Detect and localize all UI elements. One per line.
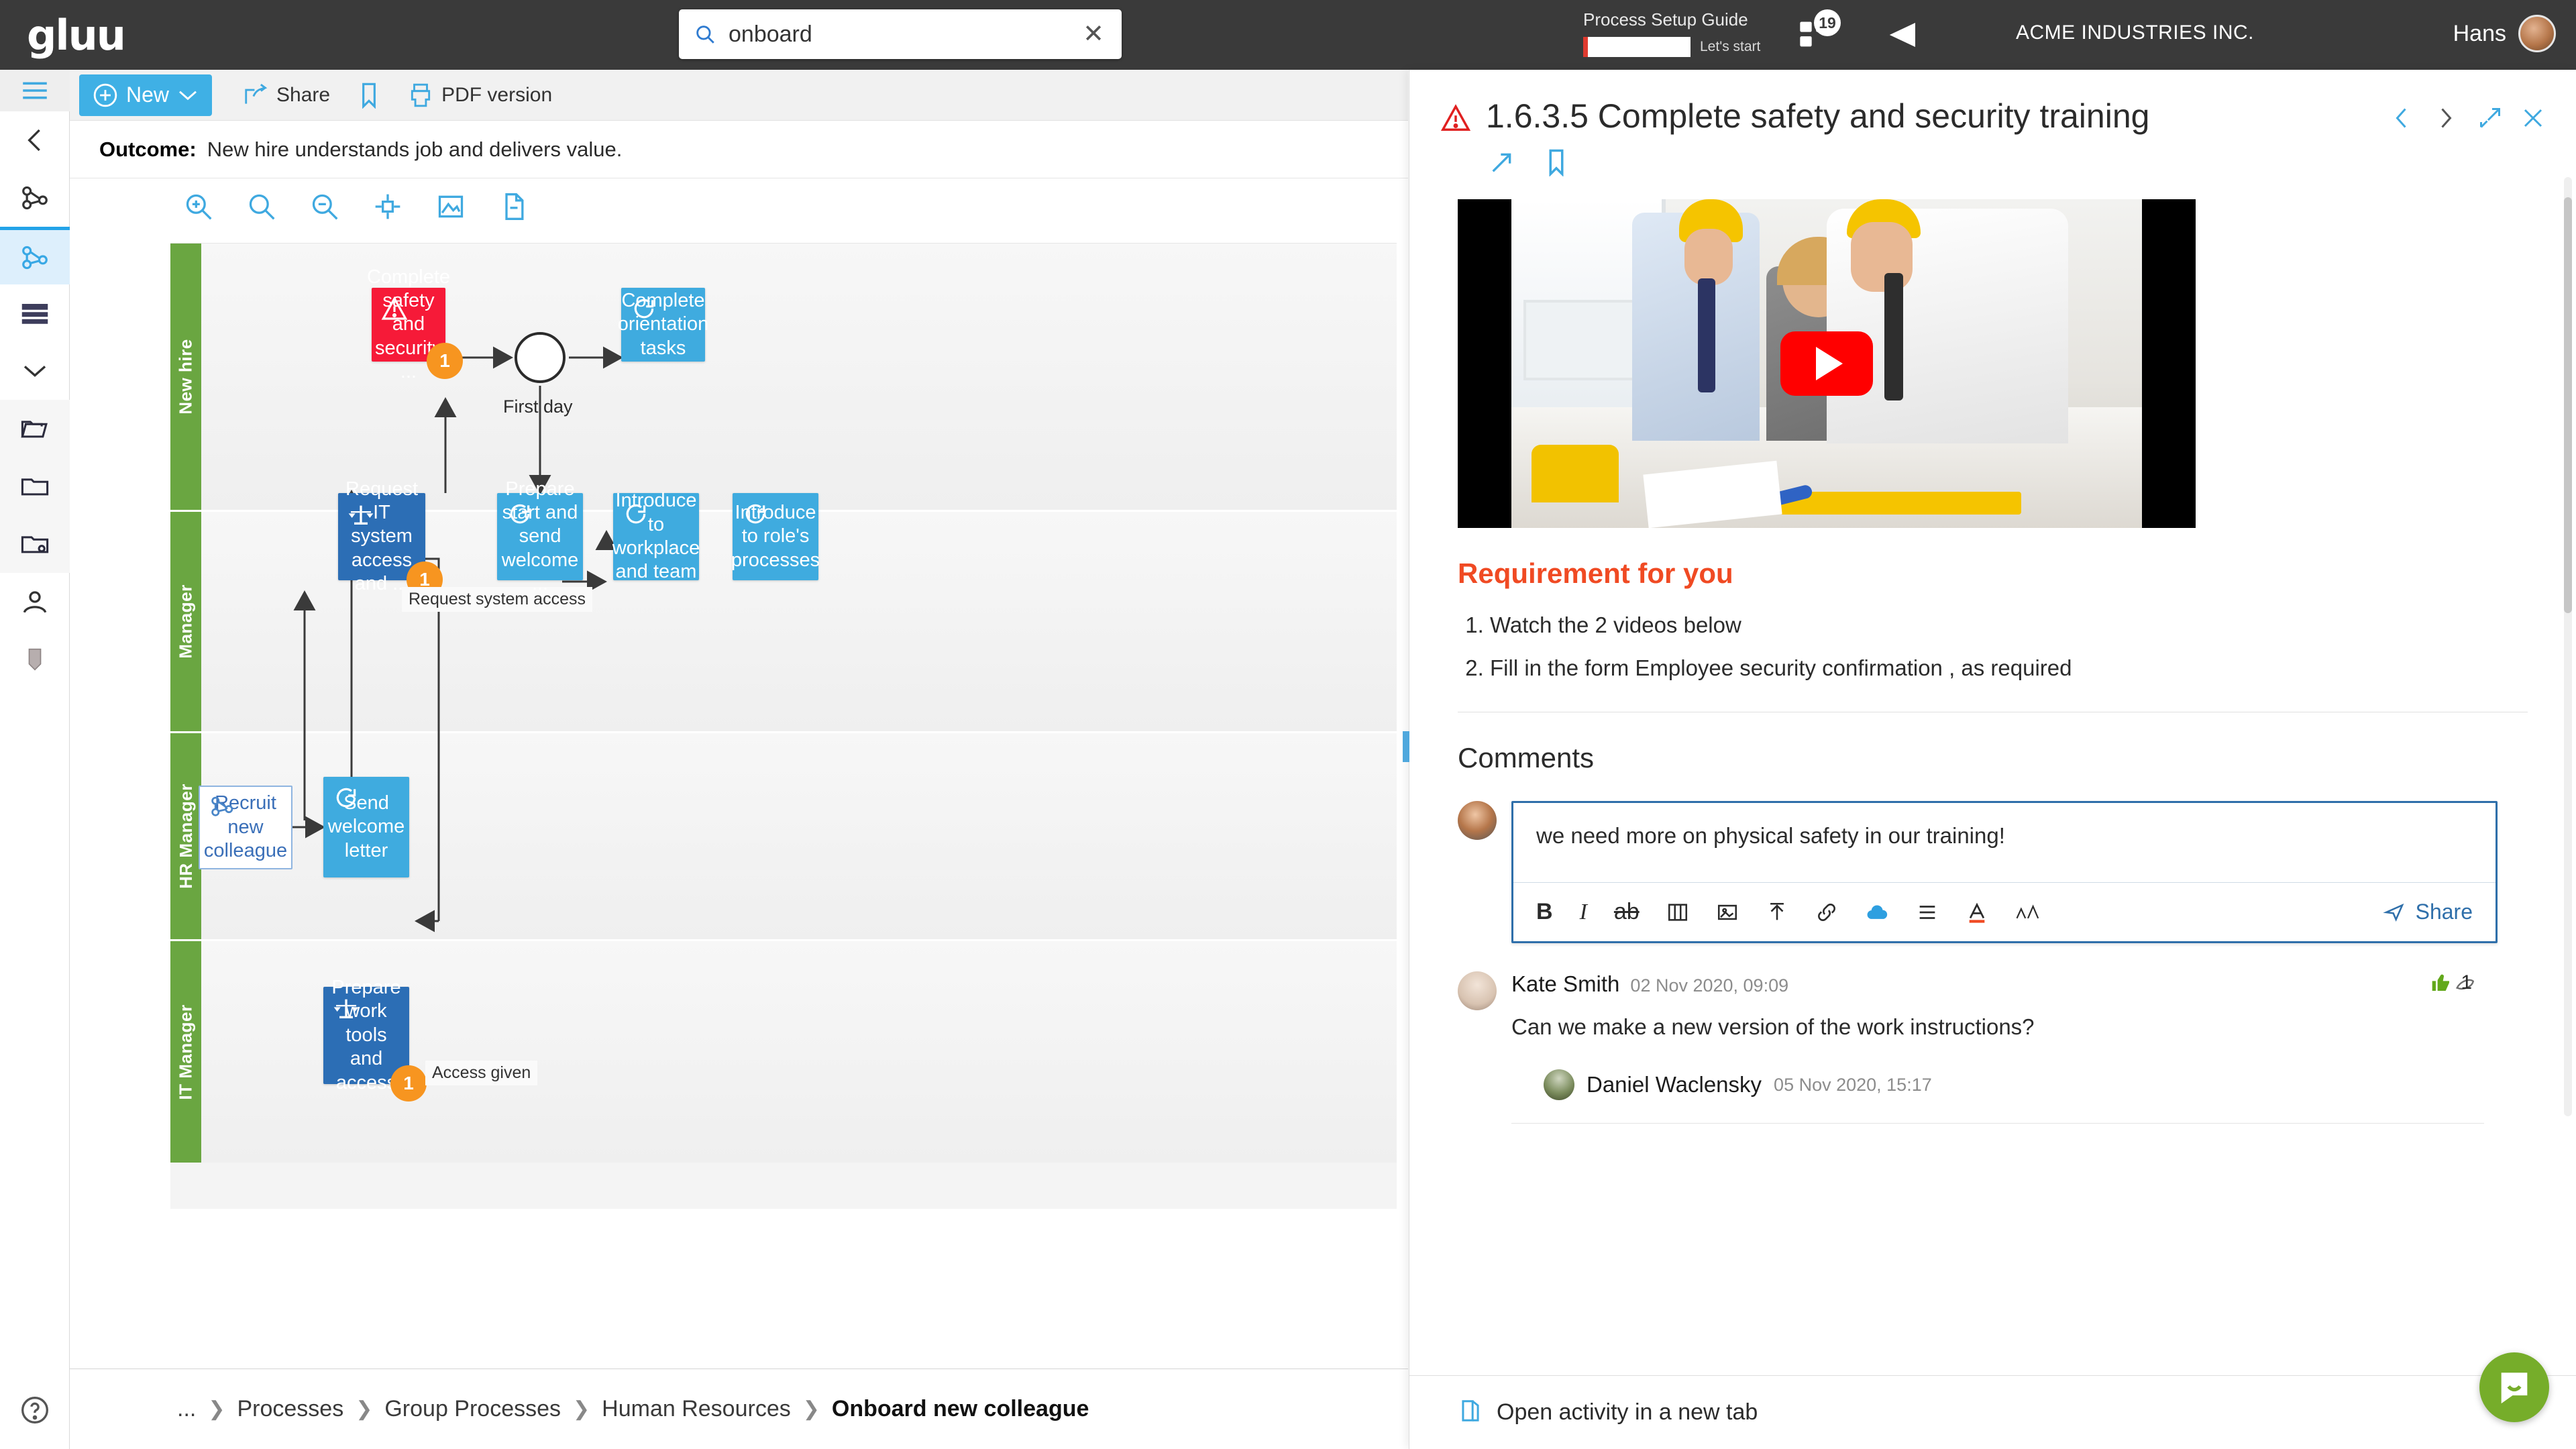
breadcrumb-item-0[interactable]: ... [177, 1396, 196, 1422]
like-button[interactable]: 1 [2430, 971, 2472, 994]
node-badge[interactable]: 1 [390, 1065, 427, 1102]
page-title: 1.6.3.5 Complete safety and security tra… [1486, 93, 2377, 135]
upload-icon[interactable] [1766, 901, 1788, 924]
clear-search-icon[interactable]: ✕ [1080, 21, 1107, 47]
like-count: 1 [2461, 971, 2472, 994]
scales-icon [347, 501, 374, 528]
panel-scrollbar[interactable] [2564, 177, 2572, 1116]
node-send-welcome-letter[interactable]: Send welcome letter [323, 777, 409, 877]
section-divider [1458, 712, 2528, 712]
left-rail [0, 70, 70, 1449]
warning-icon [381, 296, 408, 323]
strikethrough-button[interactable]: ab [1614, 899, 1640, 925]
requirement-item: Fill in the form Employee security confi… [1490, 655, 2576, 681]
gateway-first-day[interactable] [515, 332, 566, 383]
comment-editor[interactable]: we need more on physical safety in our t… [1511, 801, 2498, 943]
avatar [1544, 1069, 1574, 1100]
sidebar-item-folder-2[interactable] [0, 458, 70, 515]
node-introduce-to-roles-processes[interactable]: Introduce to role's processes [733, 493, 818, 580]
notifications-icon[interactable]: 19 [1791, 13, 1838, 56]
main-canvas: New Share PDF version Outcome: New hire … [70, 70, 1408, 1449]
pdf-label: PDF version [441, 84, 552, 107]
node-recruit-new-colleague[interactable]: Recruit new colleague [199, 786, 292, 869]
printer-icon [408, 83, 433, 108]
expand-panel-button[interactable] [2478, 105, 2502, 131]
menu-toggle-button[interactable] [0, 70, 70, 111]
requirement-heading: Requirement for you [1458, 557, 2576, 590]
sidebar-item-processes[interactable] [0, 169, 70, 227]
process-toolbar: New Share PDF version [70, 70, 1408, 121]
new-button-label: New [126, 83, 169, 107]
open-in-new-tab-label[interactable]: Open activity in a new tab [1497, 1399, 1758, 1426]
sidebar-item-help[interactable] [0, 1386, 70, 1434]
bookmark-icon [360, 82, 378, 109]
setup-guide-note: Let's start [1700, 39, 1760, 55]
gateway-label: First day [503, 396, 573, 417]
edge-label-access-given: Access given [425, 1061, 537, 1085]
zoom-in-icon[interactable] [184, 192, 213, 221]
lane-new-hire: New hire [170, 244, 1397, 512]
comment-format-toolbar: B I ab [1513, 882, 2495, 941]
setup-guide-title: Process Setup Guide [1583, 9, 1784, 30]
user-avatar[interactable] [2518, 15, 2556, 52]
node-prepare-start-and-send-welcome[interactable]: Prepare start and send welcome ... [497, 493, 583, 580]
breadcrumb-item-current: Onboard new colleague [832, 1396, 1089, 1422]
chat-bubble-icon[interactable] [2479, 1352, 2549, 1422]
app-root: gluu ✕ Process Setup Guide Let's start 1… [0, 0, 2576, 1449]
share-comment-label: Share [2416, 900, 2473, 924]
zoom-reset-icon[interactable] [247, 192, 276, 221]
comment-reply: Daniel Waclensky 05 Nov 2020, 15:17 1 [1544, 1069, 2484, 1100]
image-icon[interactable] [436, 192, 466, 221]
node-request-it-system-access[interactable]: Request IT system access and ... 1 [338, 493, 425, 580]
breadcrumb-separator: ❯ [356, 1397, 372, 1421]
avatar [1458, 801, 1497, 840]
activity-detail-panel: 1.6.3.5 Complete safety and security tra… [1409, 70, 2576, 1449]
breadcrumb-separator: ❯ [208, 1397, 225, 1421]
new-button[interactable]: New [79, 74, 212, 116]
close-panel-button[interactable] [2521, 105, 2545, 131]
comments-heading: Comments [1458, 742, 2576, 774]
reply-timestamp: 05 Nov 2020, 15:17 [1774, 1075, 1932, 1095]
avatar [1458, 971, 1497, 1010]
search-input[interactable] [729, 21, 1080, 48]
refresh-icon [506, 501, 533, 528]
comment-text: Can we make a new version of the work in… [1511, 1014, 2484, 1040]
notifications-badge: 19 [1814, 9, 1841, 36]
breadcrumb-separator: ❯ [803, 1397, 820, 1421]
requirement-list: Watch the 2 videos below Fill in the for… [1490, 612, 2576, 681]
process-diagram[interactable]: New hire Manager HR Manager IT Manager [170, 243, 1397, 1209]
organization-name: ACME INDUSTRIES INC. [2016, 21, 2254, 44]
outcome-label: Outcome: [99, 138, 197, 162]
diagram-zoom-toolbar [70, 178, 1408, 235]
search-box[interactable]: ✕ [679, 9, 1122, 59]
share-label: Share [276, 84, 330, 107]
share-icon [243, 83, 268, 107]
process-setup-guide[interactable]: Process Setup Guide Let's start [1583, 9, 1784, 57]
font-size-icon[interactable] [2015, 902, 2041, 923]
italic-button[interactable]: I [1580, 900, 1587, 925]
node-prepare-work-tools-and-access[interactable]: Prepare work tools and access 1 [323, 987, 409, 1084]
font-color-icon[interactable] [1966, 901, 1988, 924]
scales-icon [333, 995, 360, 1022]
lane-label-new-hire: New hire [170, 244, 201, 510]
bookmark-button[interactable] [345, 74, 393, 116]
warning-icon [1440, 103, 1471, 133]
node-label: Prepare work tools and access [331, 976, 400, 1095]
subprocess-icon [209, 795, 236, 822]
bold-button[interactable]: B [1536, 899, 1553, 925]
user-name: Hans [2453, 21, 2506, 47]
comment-timestamp: 02 Nov 2020, 09:09 [1630, 975, 1788, 996]
megaphone-icon[interactable] [1881, 16, 1925, 54]
table-icon[interactable] [1666, 901, 1689, 924]
lane-label-manager: Manager [170, 512, 201, 731]
sidebar-item-tables[interactable] [0, 284, 70, 342]
outcome-row: Outcome: New hire understands job and de… [70, 121, 1408, 178]
refresh-icon [623, 501, 649, 528]
lane-label-hr-manager: HR Manager [170, 733, 201, 939]
breadcrumb-separator: ❯ [573, 1397, 590, 1421]
node-complete-safety-and-security[interactable]: Complete safety and security ... 1 [372, 288, 445, 362]
share-button[interactable]: Share [228, 74, 345, 116]
panel-footer: Open activity in a new tab [1409, 1375, 2576, 1449]
node-introduce-to-workplace-and-team[interactable]: Introduce to workplace and team [613, 493, 699, 580]
sidebar-item-expand[interactable] [0, 342, 70, 400]
node-complete-orientation-tasks[interactable]: Complete orientation tasks [621, 288, 705, 362]
reply-author: Daniel Waclensky [1587, 1072, 1762, 1097]
node-label: Prepare start and send welcome ... [502, 478, 578, 596]
panel-drag-handle[interactable] [1403, 731, 1409, 762]
node-badge[interactable]: 1 [427, 343, 463, 379]
comment-item: Kate Smith 02 Nov 2020, 09:09 Can we mak… [1458, 971, 2484, 1124]
refresh-icon [742, 501, 769, 528]
fit-screen-icon[interactable] [373, 192, 402, 221]
cloud-upload-icon[interactable] [1865, 901, 1889, 924]
breadcrumb-item-3[interactable]: Human Resources [602, 1396, 791, 1422]
zoom-out-icon[interactable] [310, 192, 339, 221]
sidebar-item-collapse[interactable] [0, 111, 70, 169]
breadcrumb-item-1[interactable]: Processes [237, 1396, 343, 1422]
sidebar-item-process-map[interactable] [0, 227, 70, 284]
sidebar-item-folder-3[interactable] [0, 515, 70, 573]
chevron-down-icon [177, 89, 199, 102]
requirement-item: Watch the 2 videos below [1490, 612, 2576, 638]
breadcrumb: ... ❯ Processes ❯ Group Processes ❯ Huma… [70, 1368, 1408, 1449]
sidebar-item-folder-1[interactable] [0, 400, 70, 458]
sidebar-item-people[interactable] [0, 573, 70, 631]
bookmark-icon[interactable] [1546, 148, 1573, 176]
play-icon[interactable] [1780, 331, 1873, 396]
sidebar-item-tag[interactable] [0, 631, 70, 688]
next-activity-button[interactable] [2435, 105, 2459, 131]
setup-guide-progress [1583, 37, 1690, 57]
comment-editor-row: we need more on physical safety in our t… [1458, 801, 2576, 943]
comment-author: Kate Smith [1511, 971, 1619, 997]
pdf-version-button[interactable]: PDF version [393, 74, 567, 116]
top-bar: gluu ✕ Process Setup Guide Let's start 1… [0, 0, 2576, 70]
video-embed[interactable] [1458, 199, 2196, 528]
comment-input[interactable]: we need more on physical safety in our t… [1513, 803, 2495, 882]
lane-label-it-manager: IT Manager [170, 941, 201, 1163]
share-comment-button[interactable]: Share [2382, 900, 2473, 924]
gluu-logo[interactable]: gluu [27, 11, 125, 60]
refresh-icon [631, 296, 657, 323]
open-external-icon[interactable] [1489, 148, 1515, 176]
prev-activity-button[interactable] [2392, 105, 2416, 131]
user-menu[interactable]: Hans [2453, 15, 2556, 52]
list-icon[interactable] [1916, 901, 1939, 924]
document-icon[interactable] [499, 192, 529, 221]
breadcrumb-item-2[interactable]: Group Processes [384, 1396, 561, 1422]
insert-image-icon[interactable] [1716, 901, 1739, 924]
panel-header: 1.6.3.5 Complete safety and security tra… [1409, 70, 2576, 176]
search-icon [694, 23, 716, 46]
outcome-value: New hire understands job and delivers va… [207, 138, 623, 162]
refresh-icon [333, 785, 360, 812]
new-tab-icon[interactable] [1458, 1397, 1483, 1428]
link-icon[interactable] [1815, 901, 1838, 924]
